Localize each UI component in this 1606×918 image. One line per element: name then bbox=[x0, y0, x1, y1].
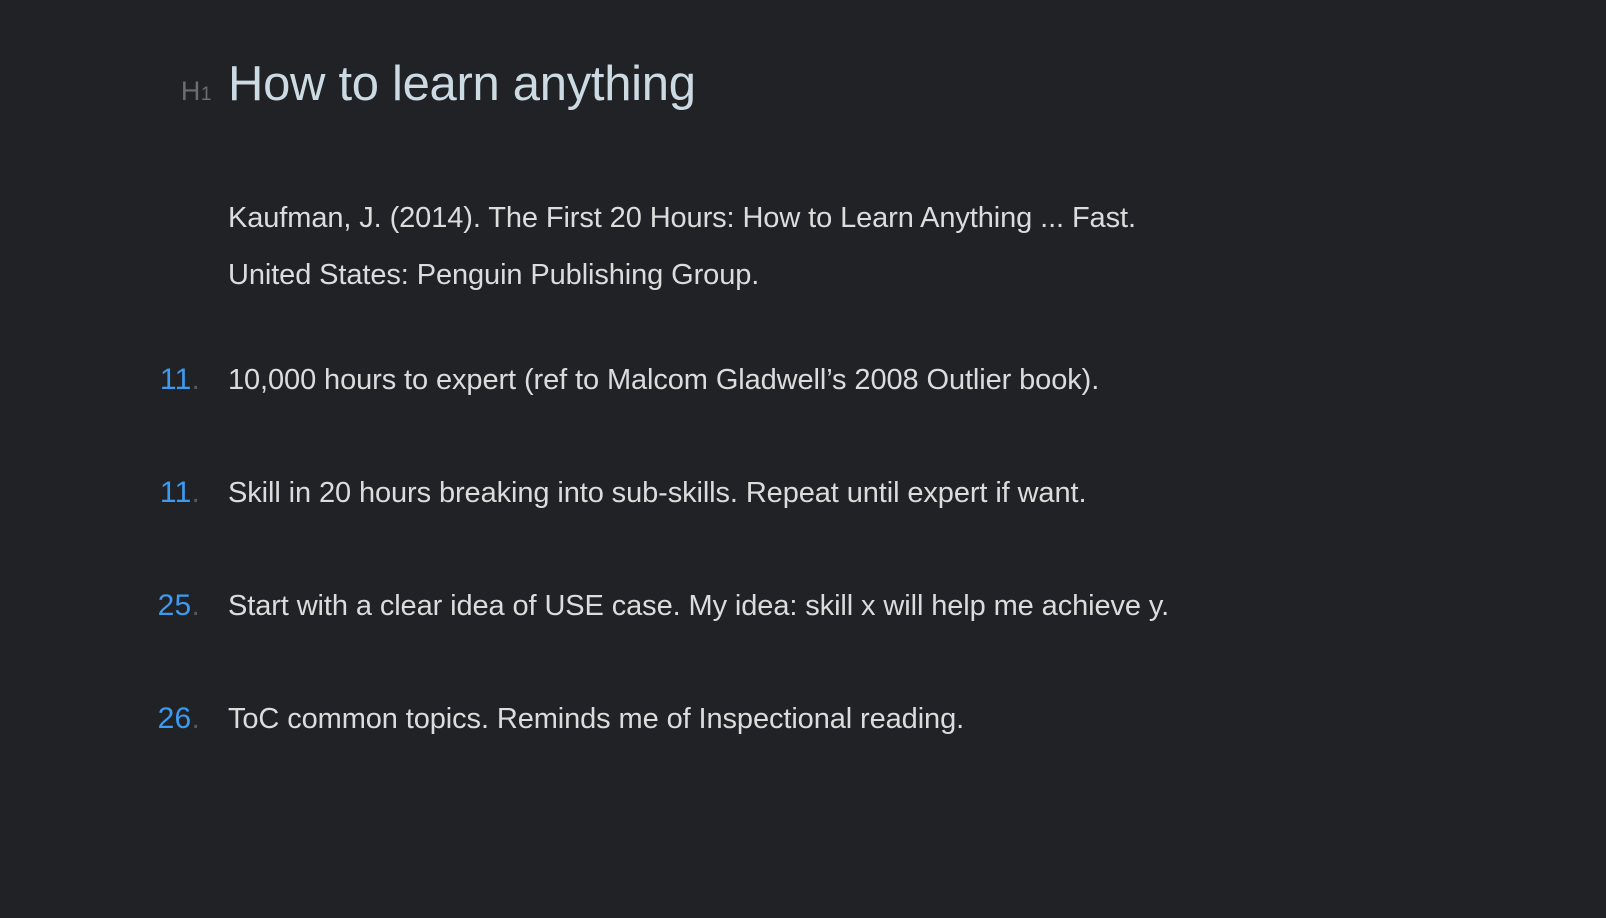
page-number-value: 11 bbox=[160, 476, 192, 509]
list-item-number[interactable]: 26. bbox=[0, 702, 228, 736]
heading-level-letter: H bbox=[181, 76, 201, 106]
list-item-number[interactable]: 11. bbox=[0, 476, 228, 510]
list-item-text: Skill in 20 hours breaking into sub-skil… bbox=[228, 475, 1086, 511]
page-number-value: 25 bbox=[158, 589, 192, 622]
citation-paragraph[interactable]: Kaufman, J. (2014). The First 20 Hours: … bbox=[228, 190, 1468, 304]
heading-row: H1 How to learn anything bbox=[0, 58, 1606, 112]
page-number-dot: . bbox=[191, 702, 200, 735]
page-title[interactable]: How to learn anything bbox=[228, 58, 696, 112]
heading-level-marker: H1 bbox=[0, 76, 228, 107]
heading-level-number: 1 bbox=[201, 84, 212, 105]
citation-line: Kaufman, J. (2014). The First 20 Hours: … bbox=[228, 190, 1468, 247]
page-number-value: 11 bbox=[160, 363, 192, 396]
list-item[interactable]: 11. Skill in 20 hours breaking into sub-… bbox=[0, 475, 1606, 588]
note-page: H1 How to learn anything Kaufman, J. (20… bbox=[0, 0, 1606, 918]
list-item[interactable]: 25. Start with a clear idea of USE case.… bbox=[0, 588, 1606, 701]
list-item[interactable]: 11. 10,000 hours to expert (ref to Malco… bbox=[0, 362, 1606, 475]
list-item-text: 10,000 hours to expert (ref to Malcom Gl… bbox=[228, 362, 1099, 398]
page-number-value: 26 bbox=[158, 702, 192, 735]
list-item-text: ToC common topics. Reminds me of Inspect… bbox=[228, 701, 964, 737]
list-item-text: Start with a clear idea of USE case. My … bbox=[228, 588, 1169, 624]
page-number-dot: . bbox=[191, 363, 200, 396]
page-number-dot: . bbox=[191, 476, 200, 509]
note-list: 11. 10,000 hours to expert (ref to Malco… bbox=[0, 362, 1606, 814]
page-number-dot: . bbox=[191, 589, 200, 622]
list-item[interactable]: 26. ToC common topics. Reminds me of Ins… bbox=[0, 701, 1606, 814]
citation-line: United States: Penguin Publishing Group. bbox=[228, 247, 1468, 304]
list-item-number[interactable]: 11. bbox=[0, 363, 228, 397]
list-item-number[interactable]: 25. bbox=[0, 589, 228, 623]
